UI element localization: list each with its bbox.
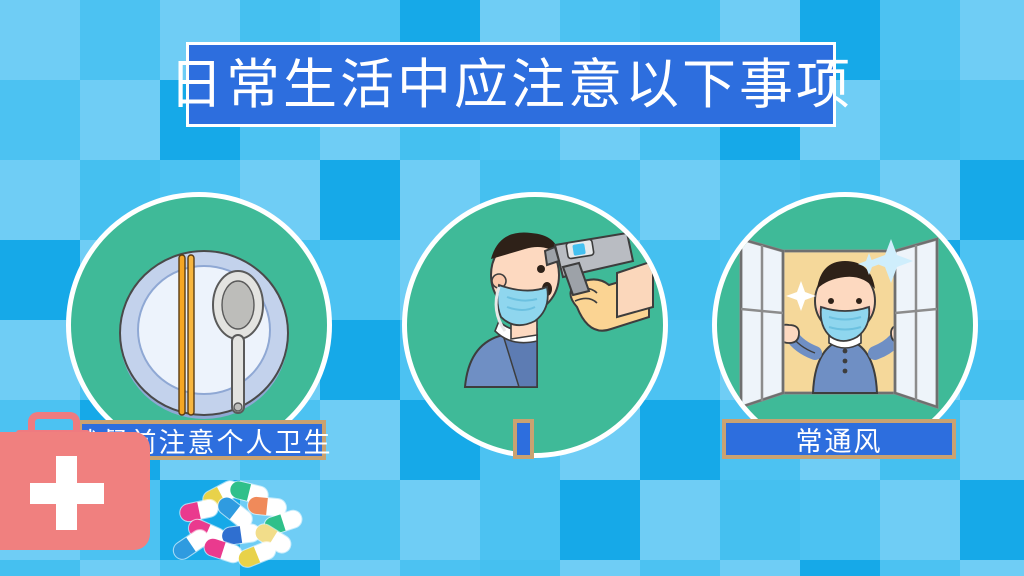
item-circle-temperature-check[interactable]	[402, 192, 668, 458]
background-tile	[400, 480, 480, 560]
background-tile	[800, 480, 880, 560]
background-tile	[320, 160, 400, 240]
background-tile	[960, 80, 1024, 160]
capsule-colored-half	[170, 537, 195, 562]
background-tile	[80, 80, 160, 160]
background-tile	[880, 80, 960, 160]
first-aid-cross-horizontal	[30, 483, 104, 504]
background-tile	[0, 80, 80, 160]
open-window-person-illustration	[717, 197, 973, 453]
background-tile	[320, 480, 400, 560]
plate-chopsticks-spoon-illustration	[71, 197, 327, 453]
background-tile	[80, 0, 160, 80]
background-tile	[0, 160, 80, 240]
capsule-pill	[236, 540, 278, 570]
background-tile	[480, 560, 560, 576]
background-tile	[80, 560, 160, 576]
background-tile	[640, 560, 720, 576]
background-tile	[320, 320, 400, 400]
background-tile	[720, 480, 800, 560]
capsule-colored-half	[247, 496, 268, 515]
item-circle-dining-hygiene[interactable]	[66, 192, 332, 458]
background-tile	[0, 560, 80, 576]
page-title: 日常生活中应注意以下事项	[169, 58, 853, 112]
slide-canvas: 日常生活中应注意以下事项	[0, 0, 1024, 576]
background-tile	[960, 480, 1024, 560]
background-tile	[560, 560, 640, 576]
background-tile	[320, 240, 400, 320]
background-tile	[800, 560, 880, 576]
caption-ventilation-label: 常通风	[796, 420, 883, 459]
background-tile	[720, 560, 800, 576]
background-tile	[0, 0, 80, 80]
caption-temperature-check	[513, 419, 534, 459]
background-tile	[480, 480, 560, 560]
forehead-thermometer-check-illustration	[407, 197, 663, 453]
caption-ventilation: 常通风	[722, 419, 956, 459]
background-tile	[880, 0, 960, 80]
background-tile	[560, 480, 640, 560]
slide-title-banner: 日常生活中应注意以下事项	[186, 42, 836, 127]
background-tile	[880, 560, 960, 576]
background-tile	[960, 560, 1024, 576]
scattered-capsules-icon	[168, 484, 308, 576]
background-tile	[400, 560, 480, 576]
background-tile	[320, 560, 400, 576]
background-tile	[880, 480, 960, 560]
background-tile	[960, 0, 1024, 80]
background-tile	[640, 480, 720, 560]
